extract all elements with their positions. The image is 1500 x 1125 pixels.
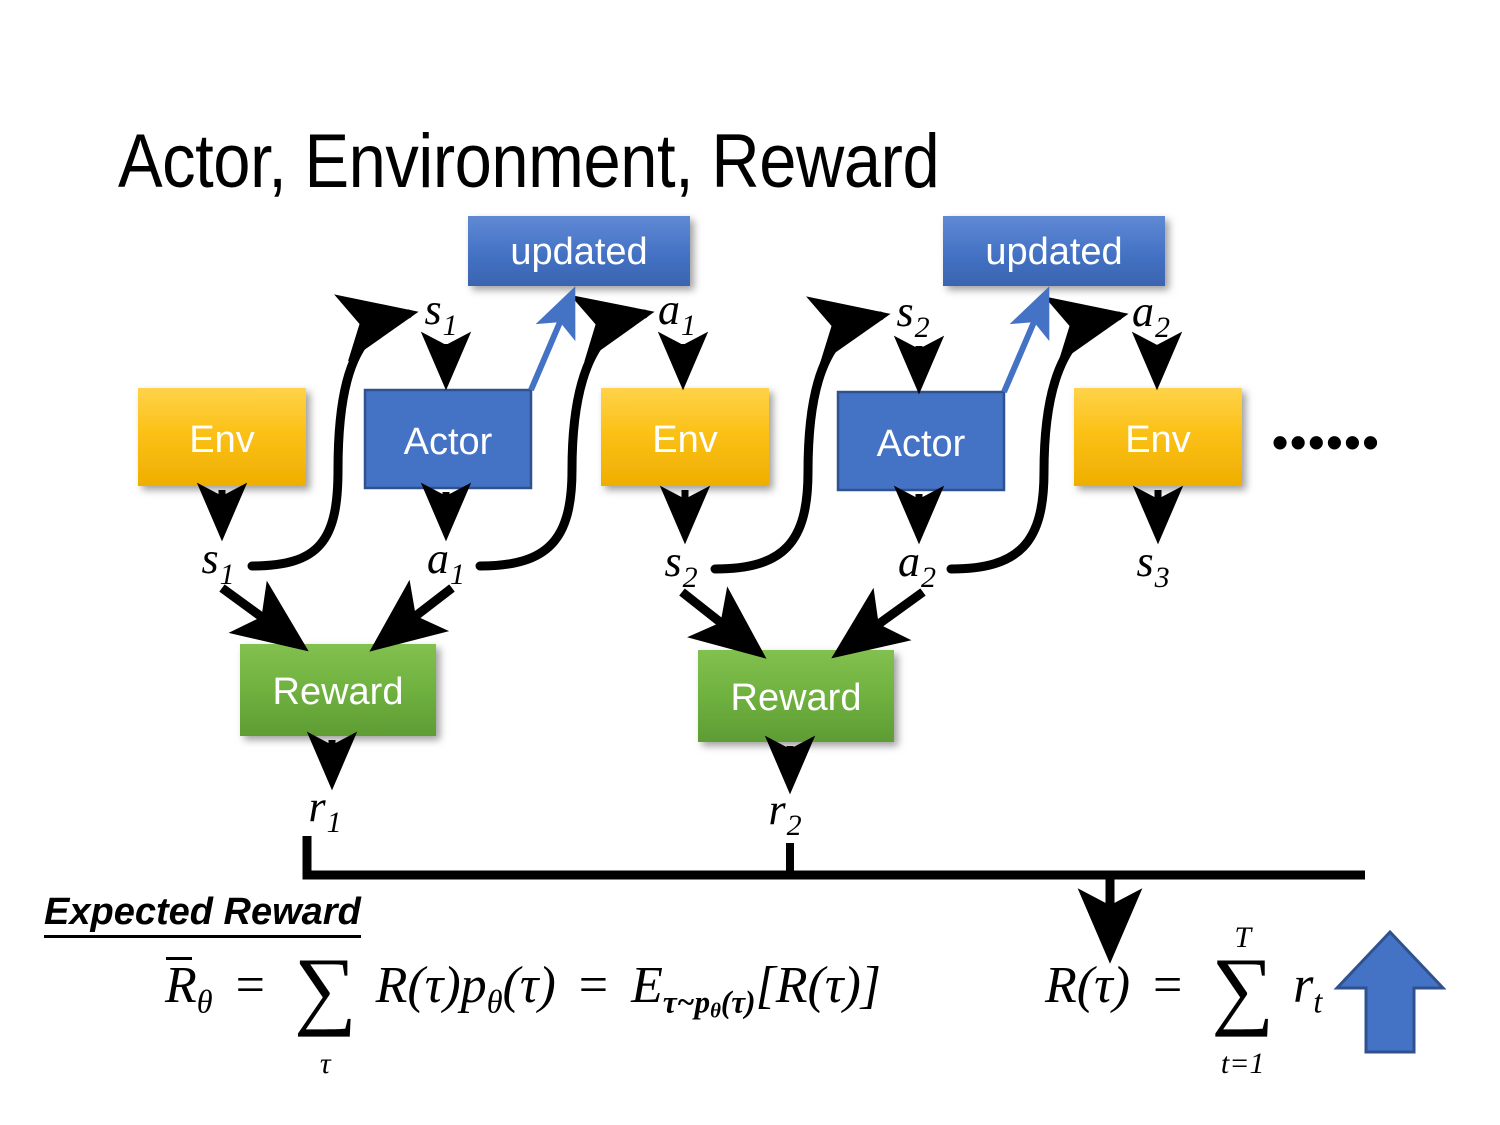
trajectory-reward-formula: R(τ) = ∑Tt=1 rt [1045, 955, 1322, 1025]
right-formula-term: r [1293, 957, 1313, 1014]
box-updated-1-label: updated [510, 231, 647, 273]
svg-text:s1: s1 [201, 534, 234, 591]
box-actor-1[interactable]: Actor [365, 390, 531, 488]
box-actor-2-label: Actor [877, 423, 966, 465]
svg-text:r2: r2 [768, 785, 801, 842]
box-env-1-label: Env [189, 419, 254, 461]
slide-canvas: Actor, Environment, Reward [0, 0, 1500, 1125]
svg-text:a1: a1 [427, 534, 465, 591]
box-actor-2[interactable]: Actor [838, 392, 1004, 490]
box-env-3[interactable]: Env [1074, 388, 1242, 486]
formula-term-tail: (τ) [503, 957, 556, 1014]
label-s2-bottom: s2 [664, 537, 697, 594]
sum-index: τ [294, 1047, 357, 1081]
reward-summation-bracket [307, 836, 1365, 953]
formula-term: R(τ)p [376, 957, 487, 1014]
box-env-2-label: Env [652, 419, 717, 461]
formula-term-sub: θ [487, 983, 503, 1019]
box-env-3-label: Env [1125, 419, 1190, 461]
formula-equals-2: = [579, 957, 608, 1014]
expected-reward-formula: Rθ = ∑τ R(τ)pθ(τ) = Eτ~pθ(τ)[R(τ)] [165, 955, 881, 1025]
label-s1-top: s1 [424, 285, 457, 342]
arrow-a2-to-reward2 [840, 592, 923, 652]
box-updated-2[interactable]: updated [943, 216, 1165, 286]
formula-expectation-sub-tail: (τ) [721, 985, 756, 1020]
right-sum-symbol: ∑ [1211, 955, 1274, 1025]
box-updated-2-label: updated [985, 231, 1122, 273]
right-formula-term-sub: t [1313, 983, 1322, 1019]
box-updated-1[interactable]: updated [468, 216, 690, 286]
svg-text:s2: s2 [664, 537, 697, 594]
arrow-s1-to-reward1 [222, 588, 300, 645]
label-s2-top: s2 [896, 287, 929, 344]
label-s1-bottom: s1 [201, 534, 234, 591]
svg-text:a2: a2 [898, 537, 936, 594]
box-env-2[interactable]: Env [601, 388, 769, 486]
box-reward-2[interactable]: Reward [698, 650, 894, 742]
formula-expectation-sub: τ~p [663, 985, 710, 1020]
svg-text:s2: s2 [896, 287, 929, 344]
arrow-a1-to-reward1 [378, 588, 452, 645]
ellipsis: •••••• [1272, 416, 1381, 468]
arrow-updated-1 [531, 294, 572, 390]
formula-expectation-symbol: E [631, 957, 663, 1014]
box-env-1[interactable]: Env [138, 388, 306, 486]
box-reward-2-label: Reward [731, 677, 862, 719]
arrow-updated-2 [1004, 294, 1046, 392]
formula-expectation-body: [R(τ)] [756, 957, 881, 1014]
formula-equals-1: = [236, 957, 265, 1014]
svg-text:r1: r1 [308, 782, 341, 839]
svg-text:a1: a1 [658, 285, 696, 342]
formula-sum-tau: ∑τ [294, 955, 357, 1025]
right-formula-equals: = [1153, 957, 1182, 1014]
box-reward-1[interactable]: Reward [240, 644, 436, 736]
svg-text:s1: s1 [424, 285, 457, 342]
box-reward-1-label: Reward [273, 671, 404, 713]
expected-reward-heading: Expected Reward [44, 893, 361, 938]
box-actor-1-label: Actor [404, 421, 493, 463]
label-a2-bottom: a2 [898, 537, 936, 594]
label-r2: r2 [768, 785, 801, 842]
svg-text:s3: s3 [1136, 537, 1169, 594]
arrow-s2-to-reward2 [682, 592, 758, 652]
blue-up-arrow-icon [1337, 932, 1443, 1052]
label-a1-bottom: a1 [427, 534, 465, 591]
ellipsis-text: •••••• [1272, 416, 1381, 468]
svg-text:a2: a2 [1132, 287, 1170, 344]
formula-lhs-base: R [165, 957, 197, 1014]
label-a2-top: a2 [1132, 287, 1170, 344]
formula-expectation-sub-theta: θ [710, 1000, 721, 1023]
label-s3-bottom: s3 [1136, 537, 1169, 594]
sum-symbol: ∑ [294, 955, 357, 1025]
right-formula-lhs: R(τ) [1045, 957, 1130, 1014]
label-a1-top: a1 [658, 285, 696, 342]
right-formula-sum: ∑Tt=1 [1211, 955, 1274, 1025]
right-sum-lower: t=1 [1211, 1047, 1274, 1081]
right-sum-upper: T [1211, 921, 1274, 955]
label-r1: r1 [308, 782, 341, 839]
formula-lhs-sub: θ [197, 983, 213, 1019]
